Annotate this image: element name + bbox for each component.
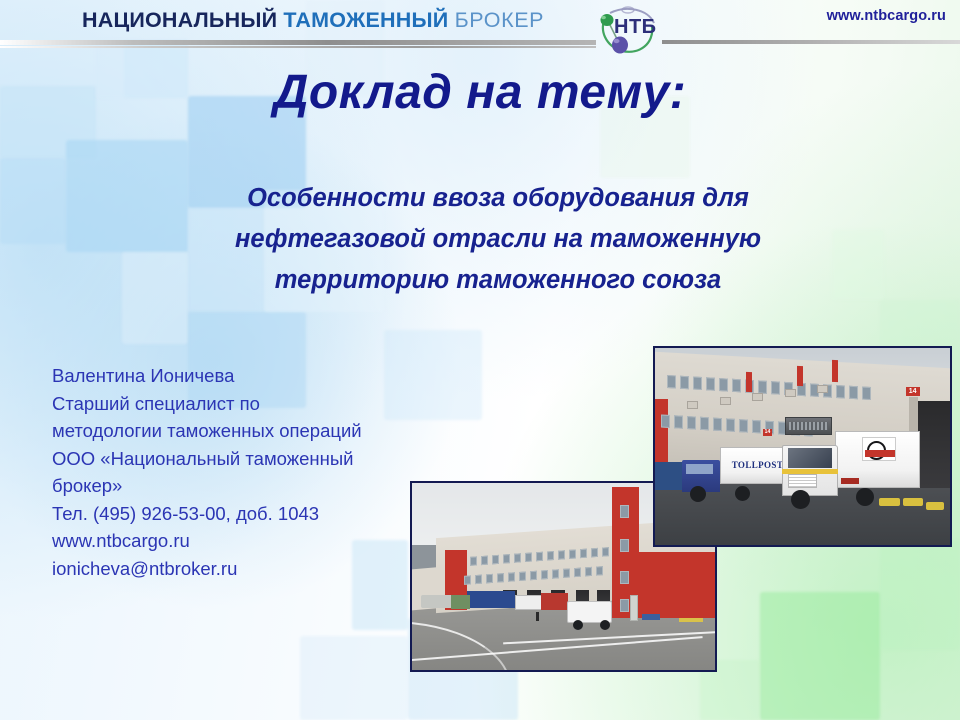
photo-ac-unit	[785, 389, 796, 397]
photo-refrigeration-grille	[789, 422, 827, 430]
photo-red-window-frame	[832, 360, 838, 382]
photo-window	[464, 575, 471, 584]
photo-tower-window	[620, 539, 629, 552]
photo-logo-red-bar	[865, 450, 895, 457]
photo-cab-stripe	[782, 469, 838, 474]
photo-window	[585, 567, 592, 576]
photo-van-wheel	[573, 620, 583, 630]
photo-truck-wheel	[856, 488, 874, 506]
photo-window	[680, 376, 689, 390]
background-square	[0, 158, 66, 244]
photo-red-wall-left	[655, 399, 668, 466]
background-square	[880, 540, 960, 650]
photo-window	[519, 571, 526, 580]
photo-tollpost-text: TOLLPOST	[732, 460, 784, 470]
photo-window	[470, 557, 477, 566]
photo-truck-wheel	[735, 486, 750, 501]
ntb-logo-text: НТБ	[614, 16, 657, 39]
photo-window	[687, 416, 696, 430]
ntb-logo: НТБ	[592, 3, 670, 59]
photo-window	[475, 574, 482, 583]
header-divider-left	[0, 40, 596, 45]
photo-green-truck	[451, 595, 469, 609]
author-phone: Тел. (495) 926-53-00, доб. 1043	[52, 500, 422, 528]
author-contact-block: Валентина Ионичева Старший специалист по…	[52, 362, 422, 582]
dock-number-badge: 14	[906, 387, 920, 396]
slide-header: НАЦИОНАЛЬНЫЙ ТАМОЖЕННЫЙ БРОКЕР НТБ www.n…	[0, 0, 960, 46]
author-name: Валентина Ионичева	[52, 362, 422, 390]
photo-tower-window	[620, 599, 629, 612]
photo-window	[574, 568, 581, 577]
photo-ac-unit	[687, 401, 698, 409]
photo-dock-bumper	[926, 502, 944, 510]
photo-ac-unit	[817, 385, 828, 393]
photo-blue-trailer	[467, 591, 515, 608]
truck-loading-dock-photo: 14 14 TOLLPOST	[653, 346, 952, 547]
photo-window	[569, 550, 576, 559]
photo-dock-bumper	[879, 498, 900, 506]
photo-window	[739, 419, 748, 433]
photo-window	[661, 414, 670, 428]
photo-window	[541, 570, 548, 579]
photo-window	[497, 573, 504, 582]
author-website[interactable]: www.ntbcargo.ru	[52, 527, 422, 555]
photo-yellow-barrier	[679, 618, 703, 623]
author-company-line-2: брокер»	[52, 472, 422, 500]
photo-window	[486, 574, 493, 583]
photo-window	[558, 550, 565, 559]
photo-window	[706, 378, 715, 392]
photo-red-window-frame	[797, 366, 803, 386]
photo-window	[771, 382, 780, 396]
photo-window	[752, 420, 761, 434]
photo-window	[492, 555, 499, 564]
photo-window	[547, 551, 554, 560]
photo-red-pillar	[630, 595, 638, 621]
photo-window	[552, 569, 559, 578]
background-square	[760, 592, 880, 720]
subtitle-line-3: территорию таможенного союза	[148, 260, 848, 301]
photo-window	[667, 375, 676, 389]
background-square	[300, 636, 408, 720]
photo-window	[836, 385, 845, 399]
photo-window	[602, 547, 609, 556]
brand-word-nacionalnyy: НАЦИОНАЛЬНЫЙ	[82, 8, 277, 32]
photo-window	[726, 418, 735, 432]
photo-ac-unit	[720, 397, 731, 405]
photo-window	[713, 417, 722, 431]
photo-dock-bumper	[903, 498, 924, 506]
photo-window	[481, 556, 488, 565]
brand-word-broker: БРОКЕР	[455, 8, 545, 32]
photo-blue-cab-window	[686, 464, 713, 474]
photo-red-window-frame	[746, 371, 752, 391]
author-title-line-2: методологии таможенных операций	[52, 417, 422, 445]
author-company-line-1: ООО «Национальный таможенный	[52, 445, 422, 473]
author-email[interactable]: ionicheva@ntbroker.ru	[52, 555, 422, 583]
photo-window	[508, 572, 515, 581]
slide-subtitle: Особенности ввоза оборудования для нефте…	[148, 178, 848, 301]
photo-window	[580, 549, 587, 558]
photo-window	[732, 379, 741, 393]
company-brand-text: НАЦИОНАЛЬНЫЙ ТАМОЖЕННЫЙ БРОКЕР	[82, 8, 544, 33]
photo-window	[719, 379, 728, 393]
photo-white-truck-small	[515, 595, 542, 610]
photo-window	[596, 566, 603, 575]
photo-window	[674, 415, 683, 429]
photo-tower-window	[620, 571, 629, 584]
photo-window	[849, 386, 858, 400]
photo-window	[862, 387, 871, 401]
photo-window	[700, 417, 709, 431]
photo-window	[525, 553, 532, 562]
photo-cab-grille	[788, 474, 818, 488]
photo-tower-window	[620, 505, 629, 518]
photo-window	[591, 548, 598, 557]
presentation-slide: НАЦИОНАЛЬНЫЙ ТАМОЖЕННЫЙ БРОКЕР НТБ www.n…	[0, 0, 960, 720]
photo-ac-unit	[752, 393, 763, 401]
header-site-url[interactable]: www.ntbcargo.ru	[827, 8, 946, 24]
photo-window	[514, 553, 521, 562]
subtitle-line-2: нефтегазовой отрасли на таможенную	[148, 219, 848, 260]
photo-van-wheel	[600, 620, 610, 630]
photo-white-cab-windshield	[788, 448, 832, 468]
photo-trailer-logo-badge	[862, 437, 896, 461]
photo-window	[503, 554, 510, 563]
header-divider-right	[662, 40, 960, 44]
photo-red-wall-right	[639, 552, 715, 617]
photo-window	[536, 552, 543, 561]
brand-word-tamozhennyy: ТАМОЖЕННЫЙ	[283, 8, 448, 32]
photo-window	[563, 568, 570, 577]
author-title-line-1: Старший специалист по	[52, 390, 422, 418]
subtitle-line-1: Особенности ввоза оборудования для	[148, 178, 848, 219]
photo-red-trailer	[541, 593, 568, 610]
photo-window	[530, 571, 537, 580]
slide-main-title: Доклад на тему:	[0, 65, 960, 120]
photo-side-logo-small	[841, 478, 859, 484]
dock-number-badge-far: 14	[763, 429, 773, 436]
photo-truck-wheel	[791, 490, 810, 509]
photo-person	[536, 612, 539, 621]
photo-window	[693, 377, 702, 391]
photo-blue-pallet	[642, 614, 660, 620]
